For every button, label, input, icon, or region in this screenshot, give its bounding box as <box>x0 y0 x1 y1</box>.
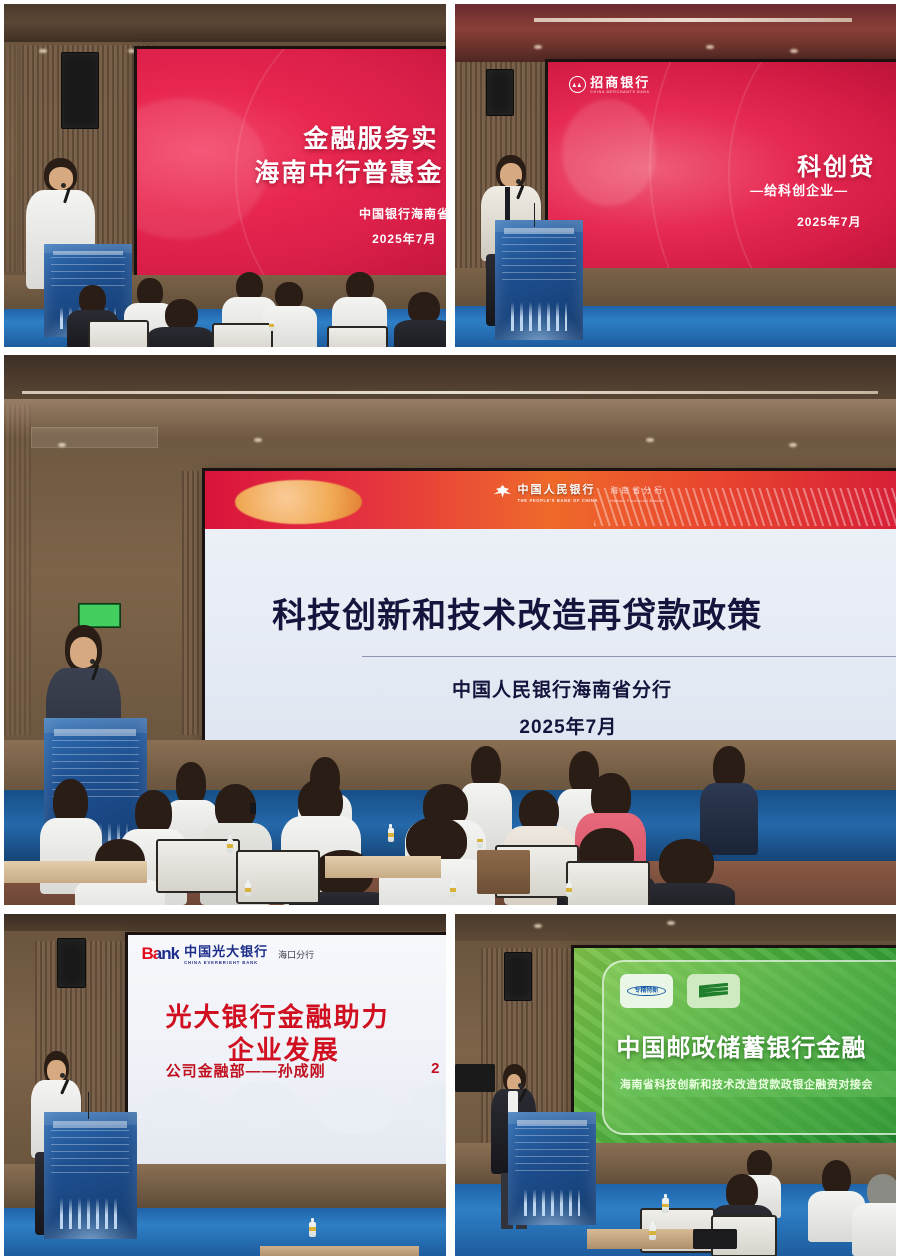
podium <box>508 1112 596 1225</box>
screen-date-partial: 2 <box>431 1060 439 1077</box>
everbright-logo-en: CHINA EVERBRIGHT BANK <box>184 961 268 965</box>
cmb-logo-cn: 招商银行 <box>590 75 650 90</box>
panel-middle-wide: 中国人民银行 THE PEOPLE'S BANK OF CHINA 海南省分行 … <box>4 355 896 905</box>
cmb-mark-icon <box>569 76 586 93</box>
psbc-badge-label: 专精特新 <box>627 986 666 997</box>
screen-date: 2025年7月 <box>519 712 617 739</box>
everbright-mark-icon: Bank <box>142 944 180 964</box>
psbc-badge-specialized: 专精特新 <box>620 974 673 1008</box>
pbc-logo: 中国人民银行 THE PEOPLE'S BANK OF CHINA 海南省分行 … <box>494 480 666 503</box>
cmb-logo-en: CHINA MERCHANTS BANK <box>590 91 650 95</box>
screen-title-line2: 海南中行普惠金 <box>254 153 443 189</box>
screen-subtitle: —给科创企业— <box>750 180 848 199</box>
pbc-emblem-icon <box>494 485 512 498</box>
pbc-branch-cn: 海南省分行 <box>610 486 665 495</box>
pbc-logo-cn: 中国人民银行 <box>518 484 596 496</box>
screen-title-line1: 金融服务实 <box>303 119 438 155</box>
screen-title: 中国邮政储蓄银行金融 <box>616 1028 866 1063</box>
screen-subtitle-org: 中国银行海南省 <box>359 205 446 222</box>
ceiling-speaker <box>504 952 532 1002</box>
podium <box>44 1112 137 1239</box>
projection-screen-pbc: 中国人民银行 THE PEOPLE'S BANK OF CHINA 海南省分行 … <box>205 471 896 752</box>
screen-title-line1: 光大银行金融助力 <box>166 997 390 1034</box>
led-screen-psbc: 专精特新 中国邮政储蓄银行金融 海南省科技创新和技术改造贷款政银企融资对接会 <box>574 948 896 1146</box>
screen-presenter: 公司金融部——孙成刚 <box>166 1060 326 1081</box>
screen-date: 2025年7月 <box>797 213 861 230</box>
screen-presenter-org: 中国人民银行海南省分行 <box>452 675 672 702</box>
everbright-logo: Bank 中国光大银行 CHINA EVERBRIGHT BANK 海口分行 <box>142 944 315 965</box>
pbc-branch-en: Hainan Provincial Branch <box>610 498 665 503</box>
ceiling-speaker <box>57 938 86 988</box>
pbc-logo-en: THE PEOPLE'S BANK OF CHINA <box>518 498 599 503</box>
screen-title: 科创贷 <box>797 147 875 182</box>
ceiling-speaker <box>61 52 98 129</box>
podium <box>495 220 583 340</box>
panel-bottom-left: Bank 中国光大银行 CHINA EVERBRIGHT BANK 海口分行 光… <box>4 914 446 1256</box>
screen-subtitle-date: 2025年7月 <box>372 230 436 247</box>
led-screen-cmb: 招商银行 CHINA MERCHANTS BANK 科创贷 —给科创企业— 20… <box>548 62 896 268</box>
projection-screen-everbright: Bank 中国光大银行 CHINA EVERBRIGHT BANK 海口分行 光… <box>128 935 446 1168</box>
cmb-logo: 招商银行 CHINA MERCHANTS BANK <box>569 75 650 96</box>
panel-top-left: 金融服务实 海南中行普惠金 中国银行海南省 2025年7月 <box>4 4 446 347</box>
led-screen-boc: 金融服务实 海南中行普惠金 中国银行海南省 2025年7月 <box>137 49 446 275</box>
everbright-logo-cn: 中国光大银行 <box>184 944 268 959</box>
panel-top-right: 招商银行 CHINA MERCHANTS BANK 科创贷 —给科创企业— 20… <box>455 4 896 347</box>
everbright-branch: 海口分行 <box>278 948 314 961</box>
panel-bottom-right: 专精特新 中国邮政储蓄银行金融 海南省科技创新和技术改造贷款政银企融资对接会 <box>455 914 896 1256</box>
photo-collage: 金融服务实 海南中行普惠金 中国银行海南省 2025年7月 <box>0 0 900 1260</box>
screen-main-title: 科技创新和技术改造再贷款政策 <box>272 588 762 637</box>
screen-subtitle: 海南省科技创新和技术改造贷款政银企融资对接会 <box>620 1076 873 1092</box>
psbc-logo-icon <box>687 974 740 1008</box>
ceiling-speaker <box>486 69 514 116</box>
